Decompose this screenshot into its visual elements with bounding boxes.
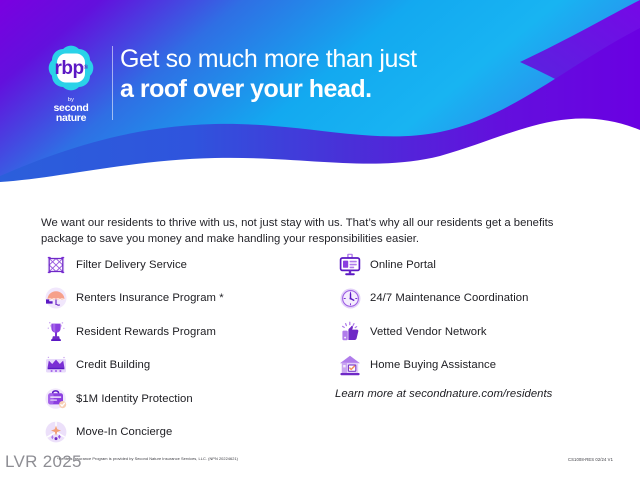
benefit-label: Filter Delivery Service xyxy=(71,259,187,271)
logo-wordmark: rbp® xyxy=(43,40,99,96)
benefit-label: Renters Insurance Program * xyxy=(71,292,224,304)
hero-headline: Get so much more than just a roof over y… xyxy=(120,44,540,104)
benefit-item-renters-insurance-program: Renters Insurance Program * xyxy=(41,282,331,316)
thumbs-up-icon xyxy=(335,319,365,345)
headline-line-1: Get so much more than just xyxy=(120,44,540,74)
benefit-item-online-portal: Online Portal xyxy=(335,248,615,282)
concierge-icon xyxy=(41,419,71,445)
benefit-label: Move-In Concierge xyxy=(71,426,172,438)
logo-divider xyxy=(112,46,113,120)
benefit-label: 24/7 Maintenance Coordination xyxy=(365,292,528,304)
clock-icon xyxy=(335,285,365,311)
flyer-page: rbp® by second nature Get so much more t… xyxy=(0,0,640,480)
benefit-label: Home Buying Assistance xyxy=(365,359,496,371)
logo-nature-word: nature xyxy=(35,113,107,123)
monitor-icon xyxy=(335,252,365,278)
benefit-item-home-buying-assistance: Home Buying Assistance xyxy=(335,349,615,383)
benefit-item-maintenance-coordination: 24/7 Maintenance Coordination xyxy=(335,282,615,316)
benefit-item-filter-delivery-service: Filter Delivery Service xyxy=(41,248,331,282)
logo-rbp-letters: rbp xyxy=(54,59,83,78)
footer-disclaimer: *Renters Insurance Program is provided b… xyxy=(57,456,238,462)
benefit-label: $1M Identity Protection xyxy=(71,393,193,405)
benefit-item-move-in-concierge: Move-In Concierge xyxy=(41,416,331,450)
rbp-logo-mark: rbp® xyxy=(43,40,99,96)
trophy-icon xyxy=(41,319,71,345)
benefit-label: Vetted Vendor Network xyxy=(365,326,487,338)
benefit-item-resident-rewards-program: Resident Rewards Program xyxy=(41,315,331,349)
benefit-item-credit-building: Credit Building xyxy=(41,349,331,383)
benefit-label: Resident Rewards Program xyxy=(71,326,216,338)
credit-crown-icon xyxy=(41,352,71,378)
benefit-item-vetted-vendor-network: Vetted Vendor Network xyxy=(335,315,615,349)
headline-line-2: a roof over your head. xyxy=(120,74,540,104)
filter-icon xyxy=(41,252,71,278)
benefit-label: Credit Building xyxy=(71,359,150,371)
benefits-right-column: Online Portal xyxy=(335,248,615,382)
shield-briefcase-icon xyxy=(41,386,71,412)
umbrella-icon xyxy=(41,285,71,311)
intro-paragraph: We want our residents to thrive with us,… xyxy=(41,215,589,247)
logo-second-nature: second nature xyxy=(35,103,107,123)
benefit-item-identity-protection: $1M Identity Protection xyxy=(41,382,331,416)
watermark-label: LVR 2025 xyxy=(5,452,82,472)
footer-document-code: CS1008-RES 02/24 V1 xyxy=(568,457,613,462)
house-icon xyxy=(335,352,365,378)
benefits-left-column: Filter Delivery Service Renters Insuranc… xyxy=(41,248,331,449)
logo-trademark: ® xyxy=(84,65,88,71)
rbp-logo: rbp® by second nature xyxy=(35,40,107,126)
learn-more-text: Learn more at secondnature.com/residents xyxy=(335,388,552,400)
logo-second-word: second xyxy=(35,103,107,113)
hero-banner: rbp® by second nature Get so much more t… xyxy=(0,0,640,186)
benefit-label: Online Portal xyxy=(365,259,436,271)
